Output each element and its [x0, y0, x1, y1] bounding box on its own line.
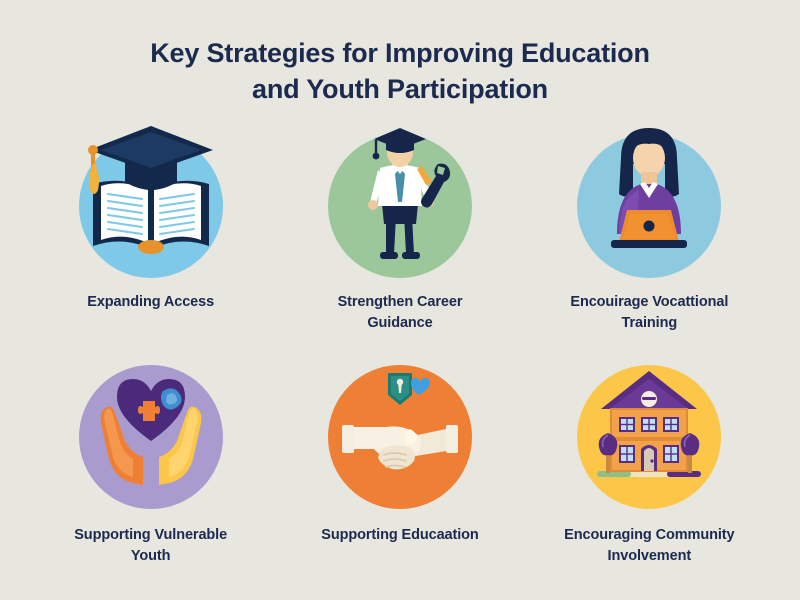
- icon-container: [328, 134, 472, 278]
- strategy-card-supporting-vulnerable-youth[interactable]: Supporting Vulnerable Youth: [28, 357, 273, 578]
- icon-container: [328, 365, 472, 509]
- school-building-trees-icon: [561, 337, 737, 513]
- strategy-label-line-2: Involvement: [608, 548, 692, 564]
- strategy-label-line-1: Expanding Access: [87, 294, 214, 310]
- graduation-cap-open-book-icon: [63, 106, 239, 282]
- icon-container: [577, 134, 721, 278]
- page-title-line-2: and Youth Participation: [60, 72, 740, 108]
- strategy-label-line-2: Guidance: [367, 315, 432, 331]
- strategy-label-line-1: Supporting Educaation: [321, 527, 478, 543]
- strategy-label-line-2: Youth: [131, 548, 171, 564]
- page-title-line-1: Key Strategies for Improving Education: [60, 36, 740, 72]
- strategy-card-expanding-access[interactable]: Expanding Access: [28, 126, 273, 347]
- icon-container: [79, 134, 223, 278]
- strategy-label-line-1: Strengthen Career: [338, 294, 463, 310]
- strategy-label: Strengthen Career Guidance: [292, 292, 507, 333]
- strategy-card-supporting-education[interactable]: Supporting Educaation: [277, 357, 522, 578]
- strategy-label: Expanding Access: [43, 292, 258, 313]
- strategy-grid: Expanding Access: [28, 126, 772, 578]
- strategy-card-encouraging-community-involvement[interactable]: Encouraging Community Involvement: [527, 357, 772, 578]
- woman-with-laptop-icon: [561, 106, 737, 282]
- graduate-with-wrench-icon: [312, 106, 488, 282]
- page-title: Key Strategies for Improving Education a…: [0, 36, 800, 107]
- strategy-card-encourage-vocational-training[interactable]: Encouirage Vocattional Training: [527, 126, 772, 347]
- strategy-label-line-2: Training: [622, 315, 678, 331]
- icon-container: [79, 365, 223, 509]
- infographic-canvas: Key Strategies for Improving Education a…: [0, 0, 800, 600]
- strategy-label: Encouraging Community Involvement: [542, 525, 757, 566]
- strategy-label: Supporting Vulnerable Youth: [43, 525, 258, 566]
- handshake-shield-heart-icon: [312, 337, 488, 513]
- strategy-label: Encouirage Vocattional Training: [542, 292, 757, 333]
- hands-holding-heart-puzzle-icon: [63, 337, 239, 513]
- strategy-label-line-1: Supporting Vulnerable: [74, 527, 227, 543]
- strategy-label-line-1: Encouraging Community: [564, 527, 734, 543]
- strategy-card-strengthen-career-guidance[interactable]: Strengthen Career Guidance: [277, 126, 522, 347]
- strategy-label-line-1: Encouirage Vocattional: [570, 294, 728, 310]
- icon-container: [577, 365, 721, 509]
- strategy-label: Supporting Educaation: [292, 525, 507, 546]
